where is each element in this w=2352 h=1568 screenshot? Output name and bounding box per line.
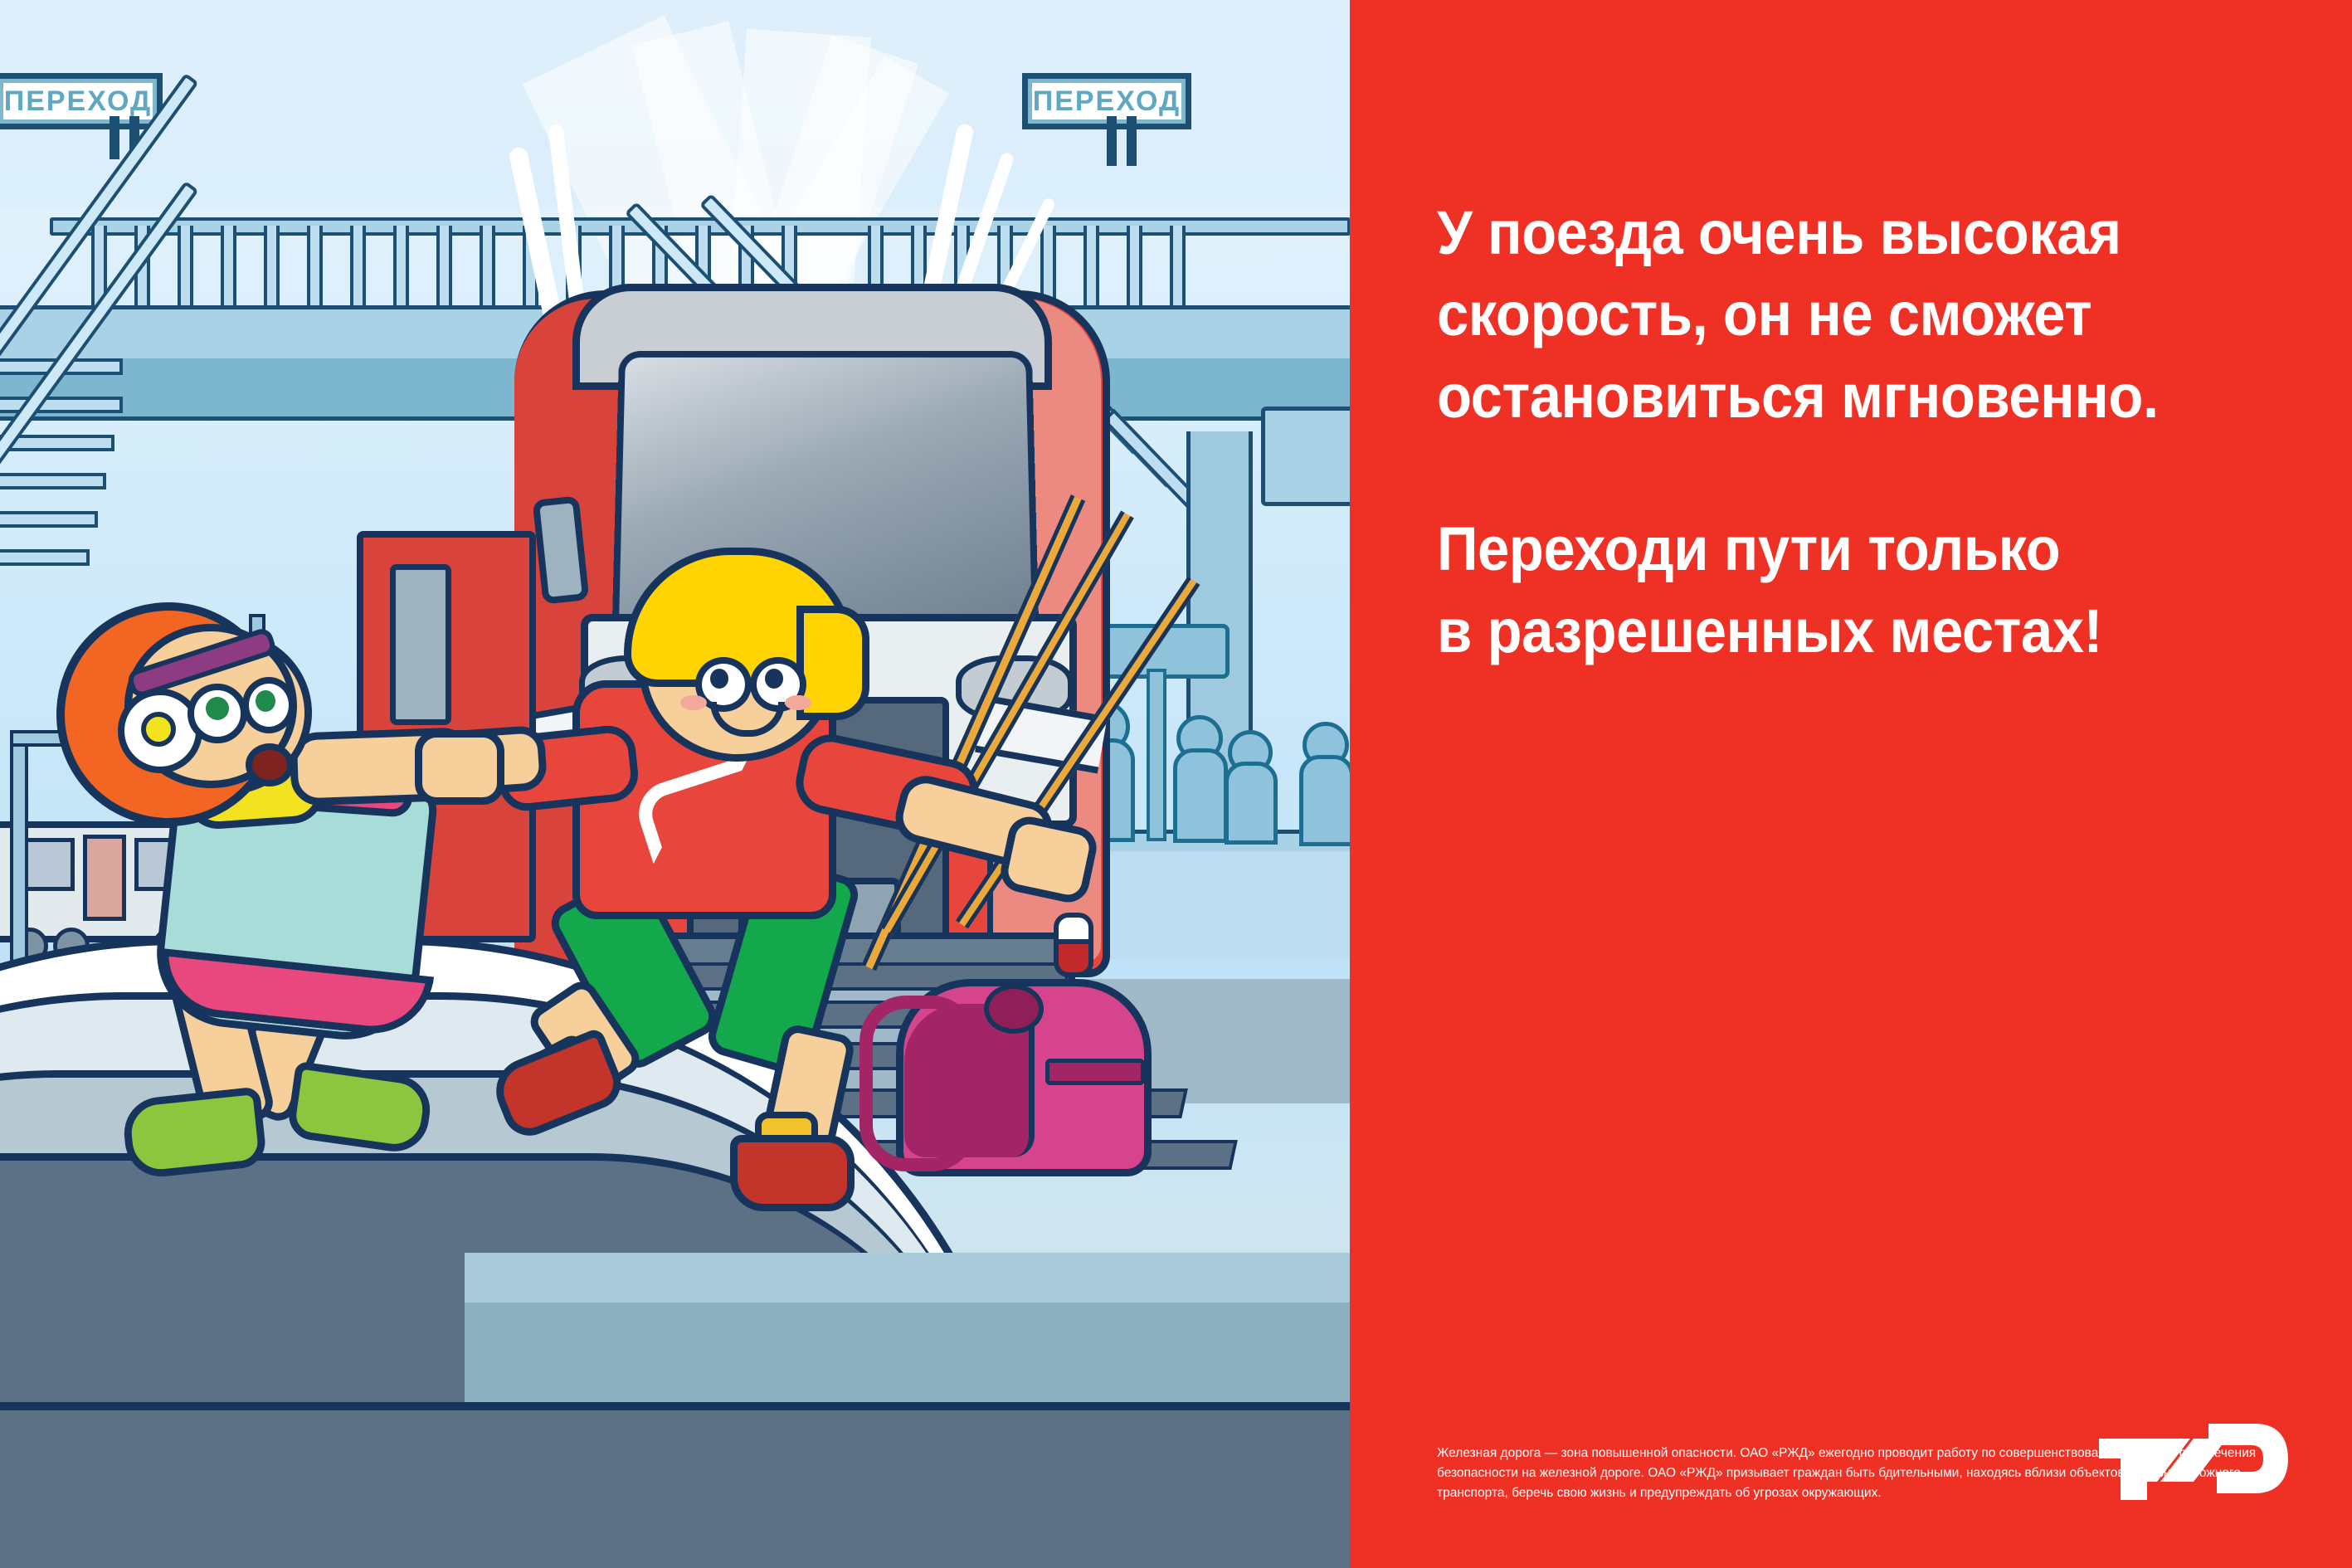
crossing-sign-left-post bbox=[110, 116, 119, 159]
girl-flower-center bbox=[141, 712, 176, 747]
girl-hand bbox=[415, 730, 504, 805]
girl-mouth bbox=[246, 743, 294, 786]
bridge-baluster bbox=[1083, 226, 1099, 307]
bridge-pillar-cap bbox=[1261, 407, 1350, 506]
rzd-logo bbox=[2092, 1410, 2291, 1510]
stair-step bbox=[0, 473, 106, 489]
catenary-mast bbox=[10, 730, 28, 986]
crowd-body bbox=[1225, 762, 1278, 845]
fishing-float-top bbox=[1054, 913, 1093, 944]
headline-line-1: У поезда очень высокая bbox=[1437, 192, 2216, 274]
bridge-baluster bbox=[436, 226, 452, 307]
foreground-dark bbox=[0, 1402, 1350, 1568]
boy-shoe-right bbox=[730, 1135, 855, 1211]
bridge-baluster bbox=[221, 226, 236, 307]
boy-pupil-right bbox=[765, 669, 783, 689]
crossing-sign-right-post bbox=[1127, 116, 1137, 166]
headline-line-3: остановиться мгновенно. bbox=[1437, 356, 2216, 437]
crossing-sign-left-label: ПЕРЕХОД bbox=[4, 85, 153, 118]
boy-cheek-right bbox=[785, 695, 811, 710]
platform-sign-post bbox=[1147, 669, 1166, 841]
crossing-sign-right-post bbox=[1107, 116, 1117, 166]
boy-pupil-left bbox=[710, 669, 728, 689]
ballast-band-light bbox=[465, 1253, 1350, 1303]
headline-line-4: Переходи пути только bbox=[1437, 509, 2216, 590]
bridge-baluster bbox=[350, 226, 366, 307]
crowd-body bbox=[1299, 755, 1350, 846]
girl-shoe-left bbox=[120, 1086, 267, 1180]
stair-step bbox=[0, 549, 90, 566]
bridge-baluster bbox=[264, 226, 280, 307]
backpack-grab-handle bbox=[984, 984, 1044, 1034]
girl-iris-right bbox=[256, 690, 275, 712]
girl-iris-left bbox=[206, 697, 229, 720]
headline-block: У поезда очень высокая скорость, он не с… bbox=[1437, 192, 2216, 672]
bridge-baluster bbox=[178, 226, 193, 307]
poster-root: ПЕРЕХОД ПЕРЕХОД bbox=[0, 0, 2352, 1568]
backpack-belt bbox=[1045, 1059, 1145, 1085]
crowd-body bbox=[1173, 748, 1228, 843]
bridge-baluster bbox=[480, 226, 495, 307]
message-panel: У поезда очень высокая скорость, он не с… bbox=[1350, 0, 2352, 1568]
boy-cheek-left bbox=[680, 695, 707, 710]
train-carriage-window bbox=[390, 564, 451, 725]
bridge-baluster bbox=[1127, 226, 1142, 307]
bridge-baluster bbox=[393, 226, 409, 307]
headline-gap bbox=[1437, 437, 2216, 509]
bridge-baluster bbox=[1170, 226, 1186, 307]
illustration-panel: ПЕРЕХОД ПЕРЕХОД bbox=[0, 0, 1350, 1568]
stair-step bbox=[0, 511, 98, 528]
bridge-baluster bbox=[307, 226, 323, 307]
distant-train-door bbox=[83, 835, 126, 921]
headline-line-2: скорость, он не сможет bbox=[1437, 274, 2216, 355]
headline-line-5: в разрешенных местах! bbox=[1437, 591, 2216, 672]
crossing-sign-right-label: ПЕРЕХОД bbox=[1033, 85, 1181, 118]
backpack-strap bbox=[859, 996, 977, 1171]
